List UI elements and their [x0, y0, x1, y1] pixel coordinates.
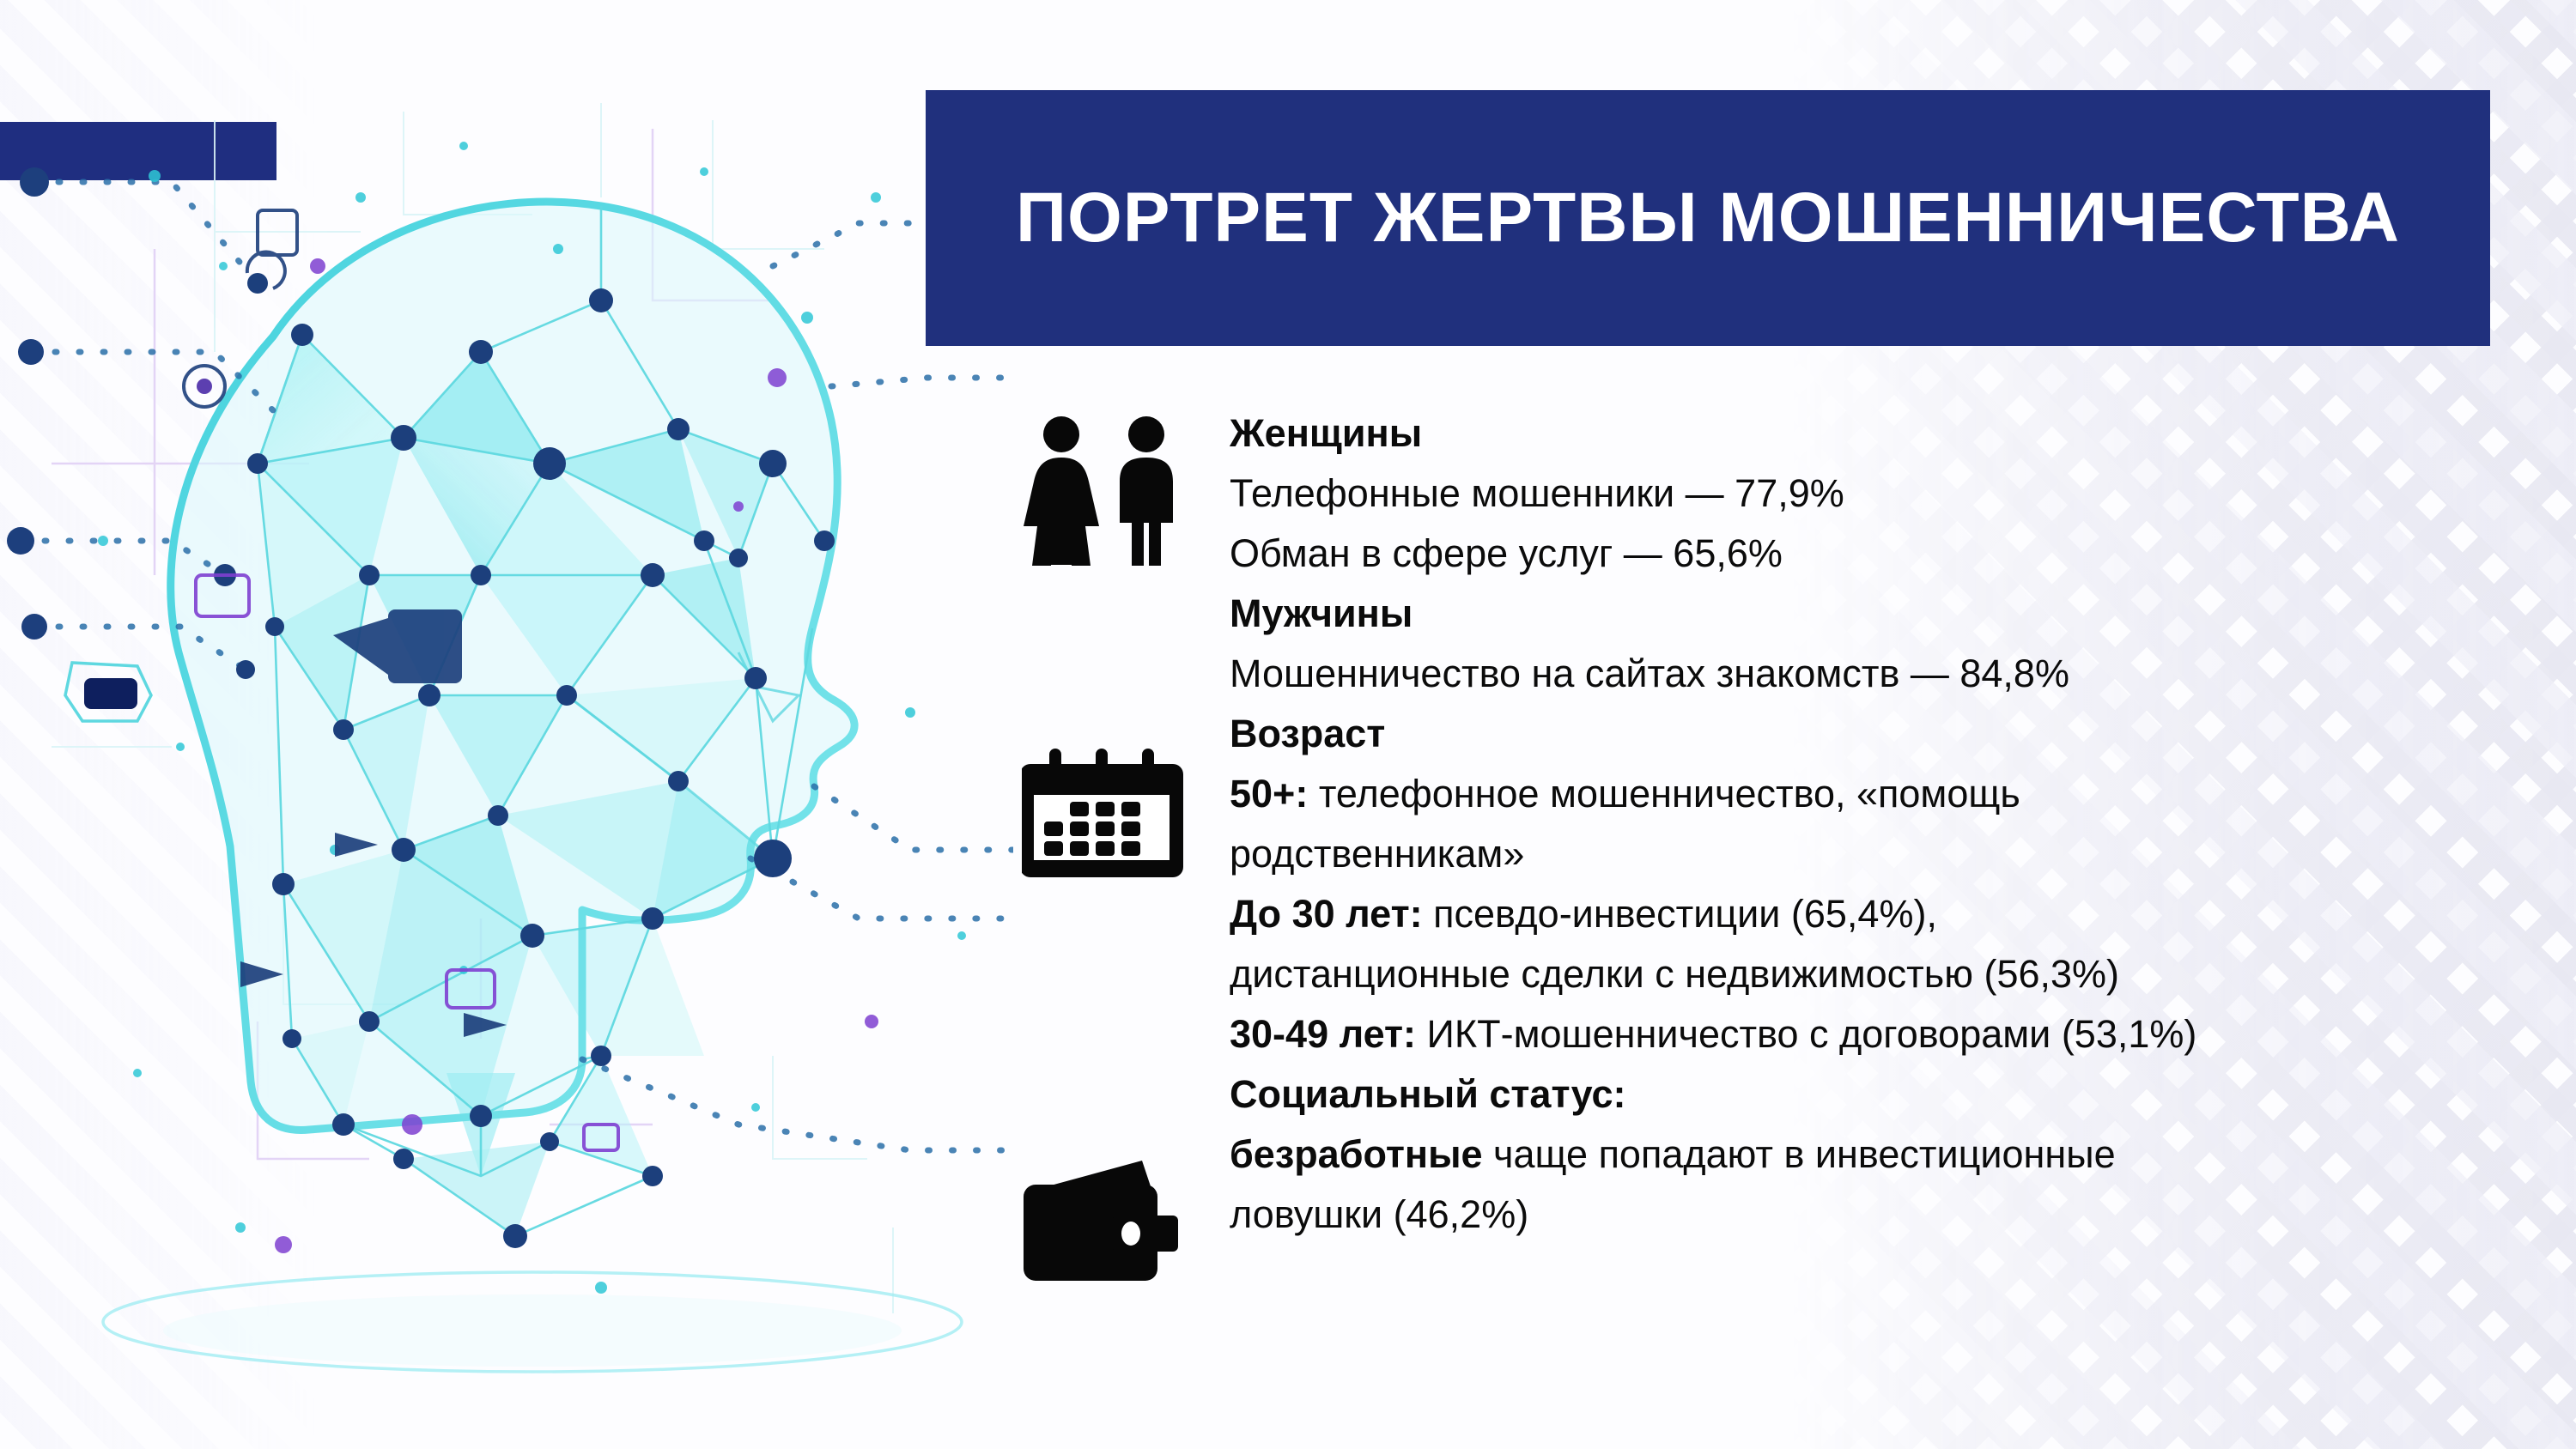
- page-title: ПОРТРЕТ ЖЕРТВЫ МОШЕННИЧЕСТВА: [1016, 183, 2400, 253]
- calendar-icon: [1022, 747, 1185, 897]
- text-line-unemployed-cont: ловушки (46,2%): [1230, 1185, 2535, 1245]
- title-banner: ПОРТРЕТ ЖЕРТВЫ МОШЕННИЧЕСТВА: [926, 90, 2490, 346]
- text-line-women-heading: Женщины: [1230, 403, 2535, 464]
- text-line-age-under30: До 30 лет: псевдо-инвестиции (65,4%),: [1230, 884, 2535, 944]
- man-woman-icon: [1020, 415, 1200, 566]
- label-women: Женщины: [1230, 411, 1422, 455]
- text-line-age-30-49: 30-49 лет: ИКТ-мошенничество с договорам…: [1230, 1004, 2535, 1064]
- text-line-social-status-heading: Социальный статус:: [1230, 1064, 2535, 1125]
- text-line-men-heading: Мужчины: [1230, 584, 2535, 644]
- polygonal-head-illustration: [0, 94, 1013, 1434]
- text-line-women-phone-fraud: Телефонные мошенники — 77,9%: [1230, 464, 2535, 524]
- text-line-unemployed: безработные чаще попадают в инвестиционн…: [1230, 1125, 2535, 1185]
- text-line-age-50plus-cont: родственникам»: [1230, 824, 2535, 884]
- text-line-age-50plus: 50+: телефонное мошенничество, «помощь: [1230, 764, 2535, 824]
- text-line-men-dating-fraud: Мошенничество на сайтах знакомств — 84,8…: [1230, 644, 2535, 704]
- text-line-age-under30-cont: дистанционные сделки с недвижимостью (56…: [1230, 944, 2535, 1004]
- label-age: Возраст: [1230, 712, 1385, 755]
- victim-profile-text-block: Женщины Телефонные мошенники — 77,9% Обм…: [1230, 403, 2535, 1245]
- wallet-icon: [1022, 1161, 1189, 1302]
- label-social-status: Социальный статус:: [1230, 1072, 1626, 1116]
- text-line-women-services-fraud: Обман в сфере услуг — 65,6%: [1230, 524, 2535, 584]
- slide-root: Женщины Телефонные мошенники — 77,9% Обм…: [0, 0, 2576, 1449]
- label-men: Мужчины: [1230, 591, 1413, 635]
- text-line-age-heading: Возраст: [1230, 704, 2535, 764]
